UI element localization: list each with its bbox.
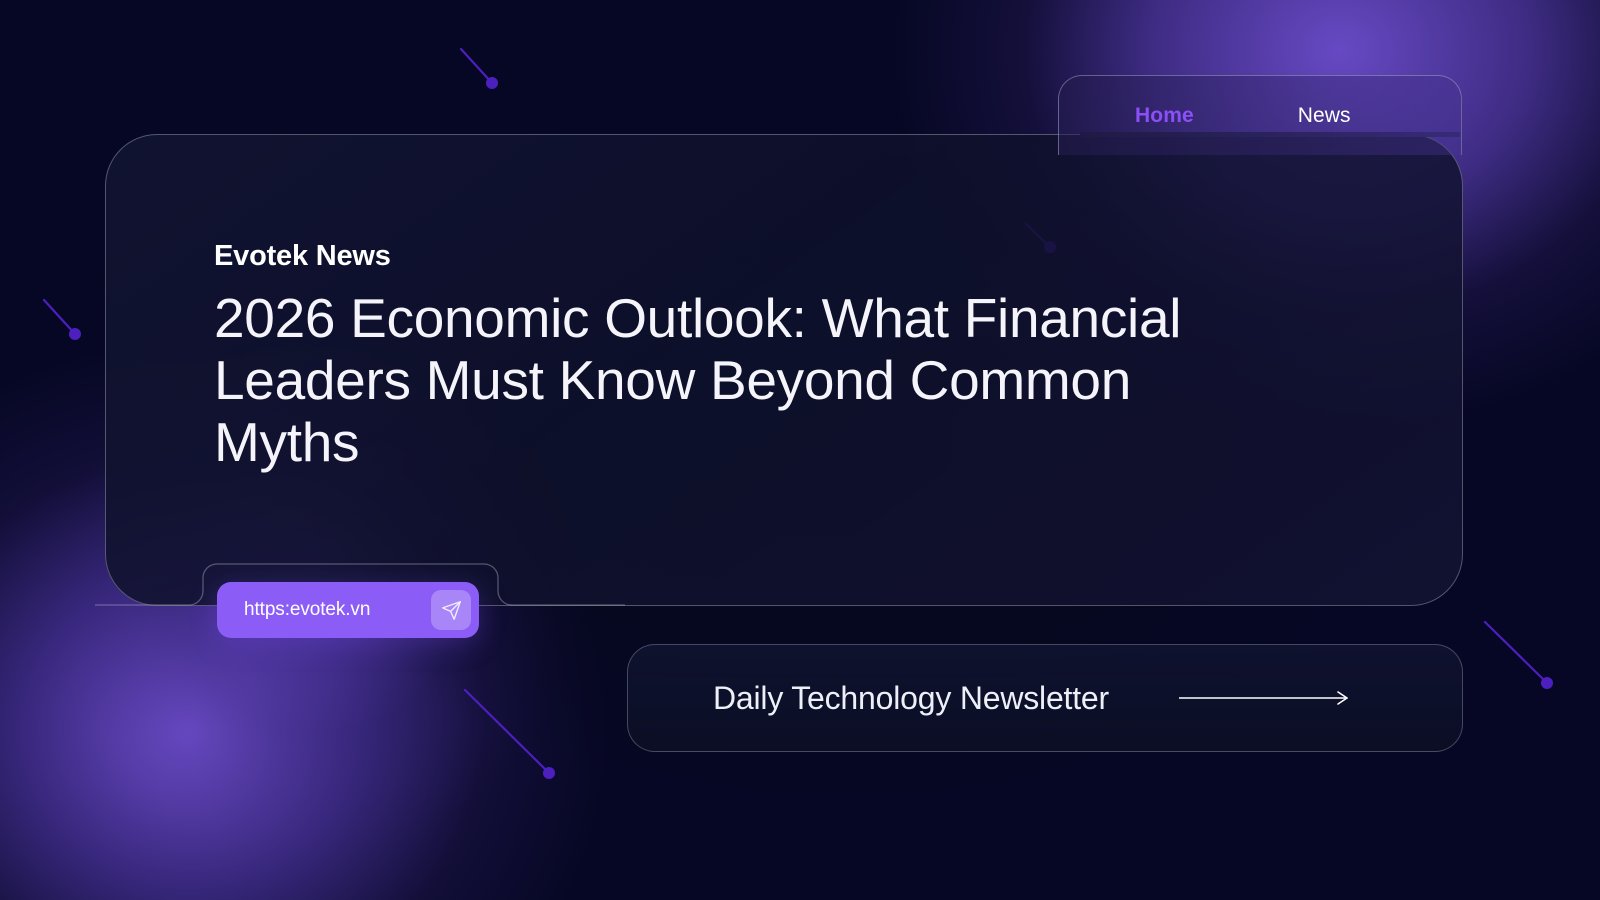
decor-line-top-left [461,49,492,83]
hero-screen: Home News Evotek News 2026 Economic Outl… [0,0,1600,900]
top-nav: Home News [1058,75,1462,155]
url-pill[interactable]: https:evotek.vn [217,582,479,638]
decor-line-right [1485,622,1547,683]
decor-line-right-dot [1541,677,1553,689]
nav-link-news[interactable]: News [1298,104,1351,128]
decor-line-top-left-dot [486,77,498,89]
decor-line-bottom-left-dot [543,767,555,779]
decor-line-left [44,300,75,334]
send-icon[interactable] [431,590,471,630]
hero-content: Evotek News 2026 Economic Outlook: What … [214,240,1314,473]
card-nav-seam [1080,132,1460,137]
newsletter-bar[interactable]: Daily Technology Newsletter [627,644,1463,752]
hero-headline: 2026 Economic Outlook: What Financial Le… [214,287,1274,473]
hero-eyebrow: Evotek News [214,240,1314,273]
nav-link-home[interactable]: Home [1135,104,1194,128]
arrow-right-icon[interactable] [1179,689,1351,707]
newsletter-label: Daily Technology Newsletter [713,680,1109,717]
url-text: https:evotek.vn [244,599,370,621]
decor-line-bottom-left [465,690,549,773]
decor-line-left-dot [69,328,81,340]
